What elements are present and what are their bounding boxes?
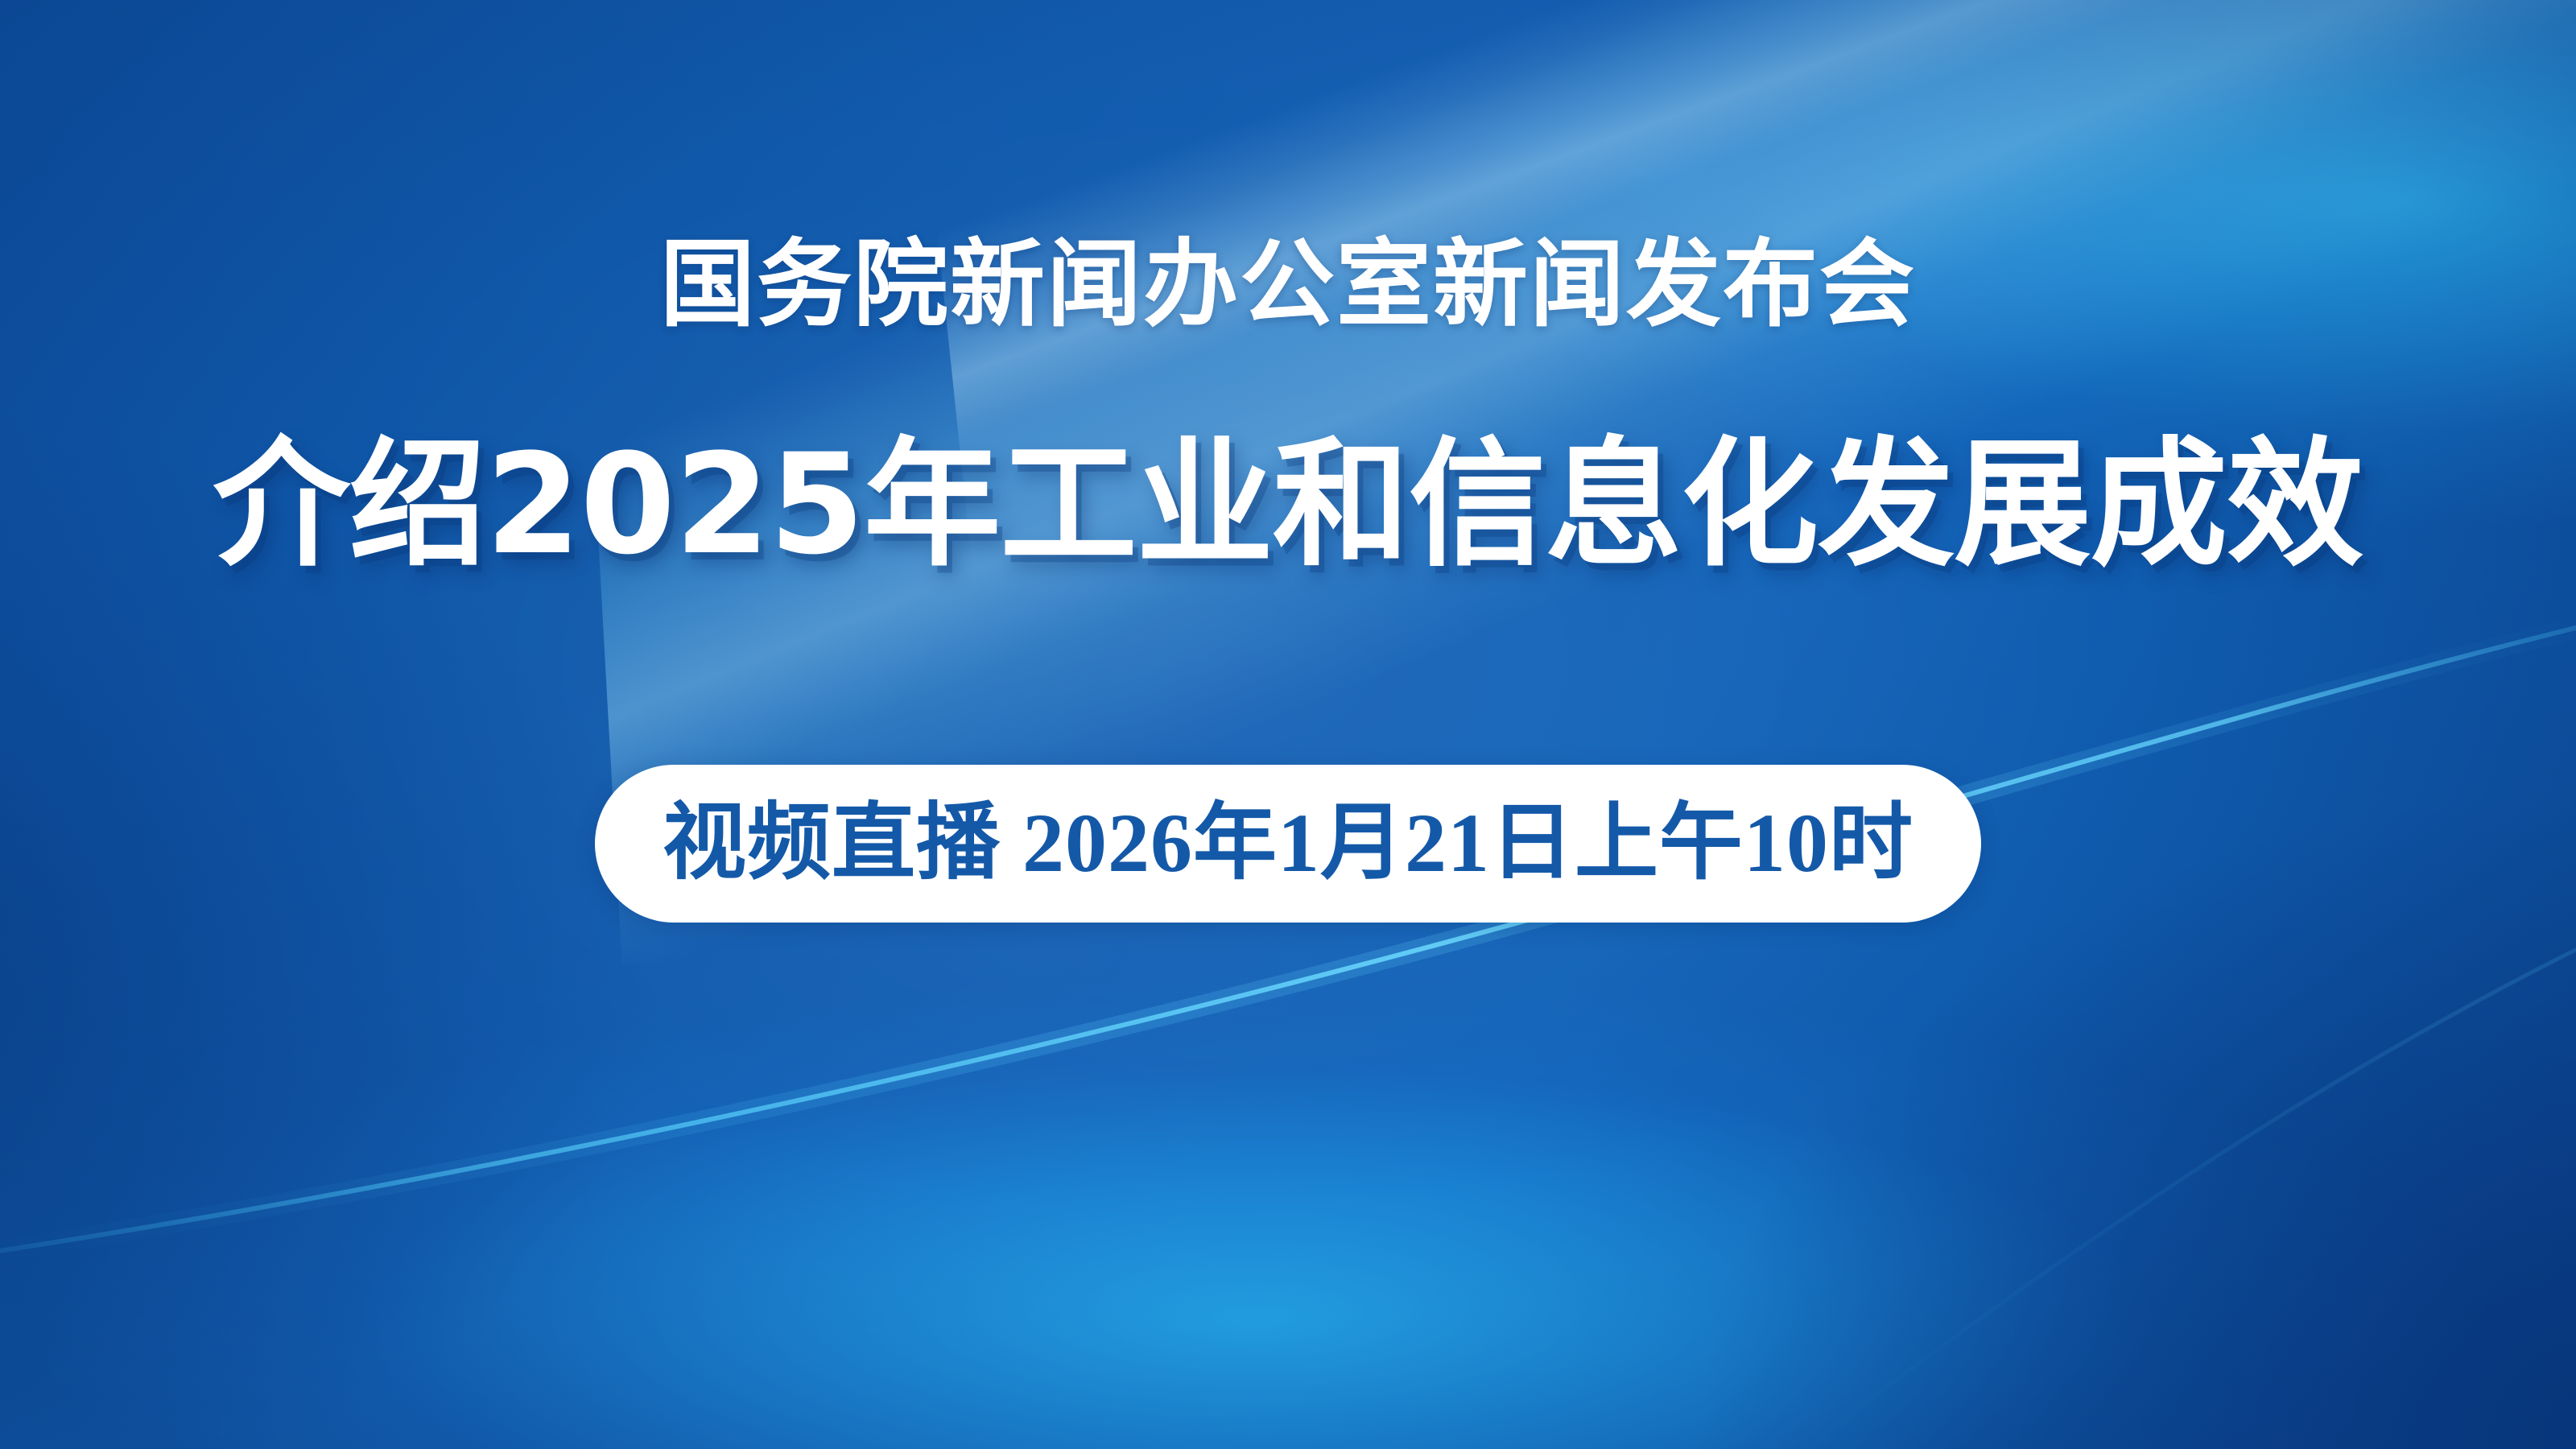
conference-kicker: 国务院新闻办公室新闻发布会 [660,235,1916,336]
page-title: 介绍2025年工业和信息化发展成效 [213,436,2363,574]
banner-content: 国务院新闻办公室新闻发布会 介绍2025年工业和信息化发展成效 视频直播 202… [0,0,2576,1449]
livestream-badge: 视频直播 2026年1月21日上午10时 [595,765,1981,923]
news-conference-banner: 国务院新闻办公室新闻发布会 介绍2025年工业和信息化发展成效 视频直播 202… [0,0,2576,1449]
livestream-badge-label: 视频直播 2026年1月21日上午10时 [663,802,1913,885]
